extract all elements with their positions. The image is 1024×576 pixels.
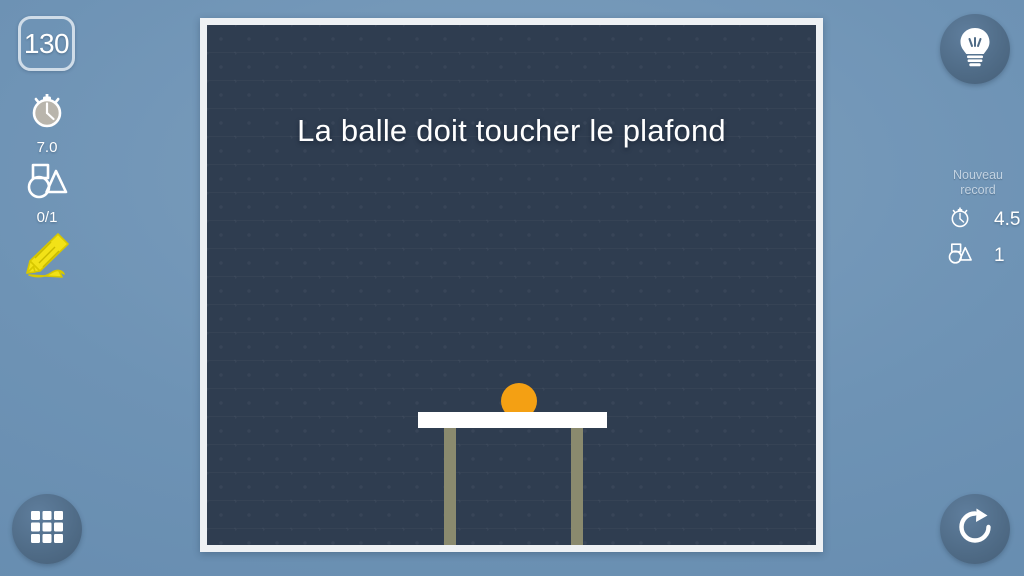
objective-text: La balle doit toucher le plafond [207,113,816,149]
shapes-icon [946,241,974,271]
pencil-tool-button[interactable] [18,228,76,280]
level-badge: 130 [18,16,75,71]
new-record-panel: Nouveau record 4.5 [932,168,1024,271]
record-shapes-row: 1 [932,241,1024,271]
pencil-icon [18,228,76,285]
grid-icon [30,510,64,549]
hint-button[interactable] [940,14,1010,84]
stopwatch-icon [0,88,94,137]
shapes-icon [0,160,94,207]
shapes-stat: 0/1 [0,160,94,226]
restart-icon [956,508,994,551]
record-time-row: 4.5 [932,204,1024,235]
table-leg-left [444,428,456,545]
game-board-frame: La balle doit toucher le plafond [200,18,823,552]
shapes-value: 0/1 [0,209,94,226]
record-time-value: 4.5 [994,209,1024,231]
stopwatch-icon [947,204,973,235]
levels-button[interactable] [12,494,82,564]
timer-value: 7.0 [0,139,94,156]
lightbulb-icon [955,25,995,74]
timer-stat: 7.0 [0,88,94,156]
restart-button[interactable] [940,494,1010,564]
game-screen: 130 7.0 0/1 [0,0,1024,576]
level-number: 130 [24,28,69,60]
record-shapes-value: 1 [994,245,1024,267]
record-title-line1: Nouveau [932,168,1024,183]
record-title-line2: record [932,183,1024,198]
table-leg-right [571,428,583,545]
game-board-canvas[interactable]: La balle doit toucher le plafond [207,25,816,545]
table-top [418,412,607,428]
